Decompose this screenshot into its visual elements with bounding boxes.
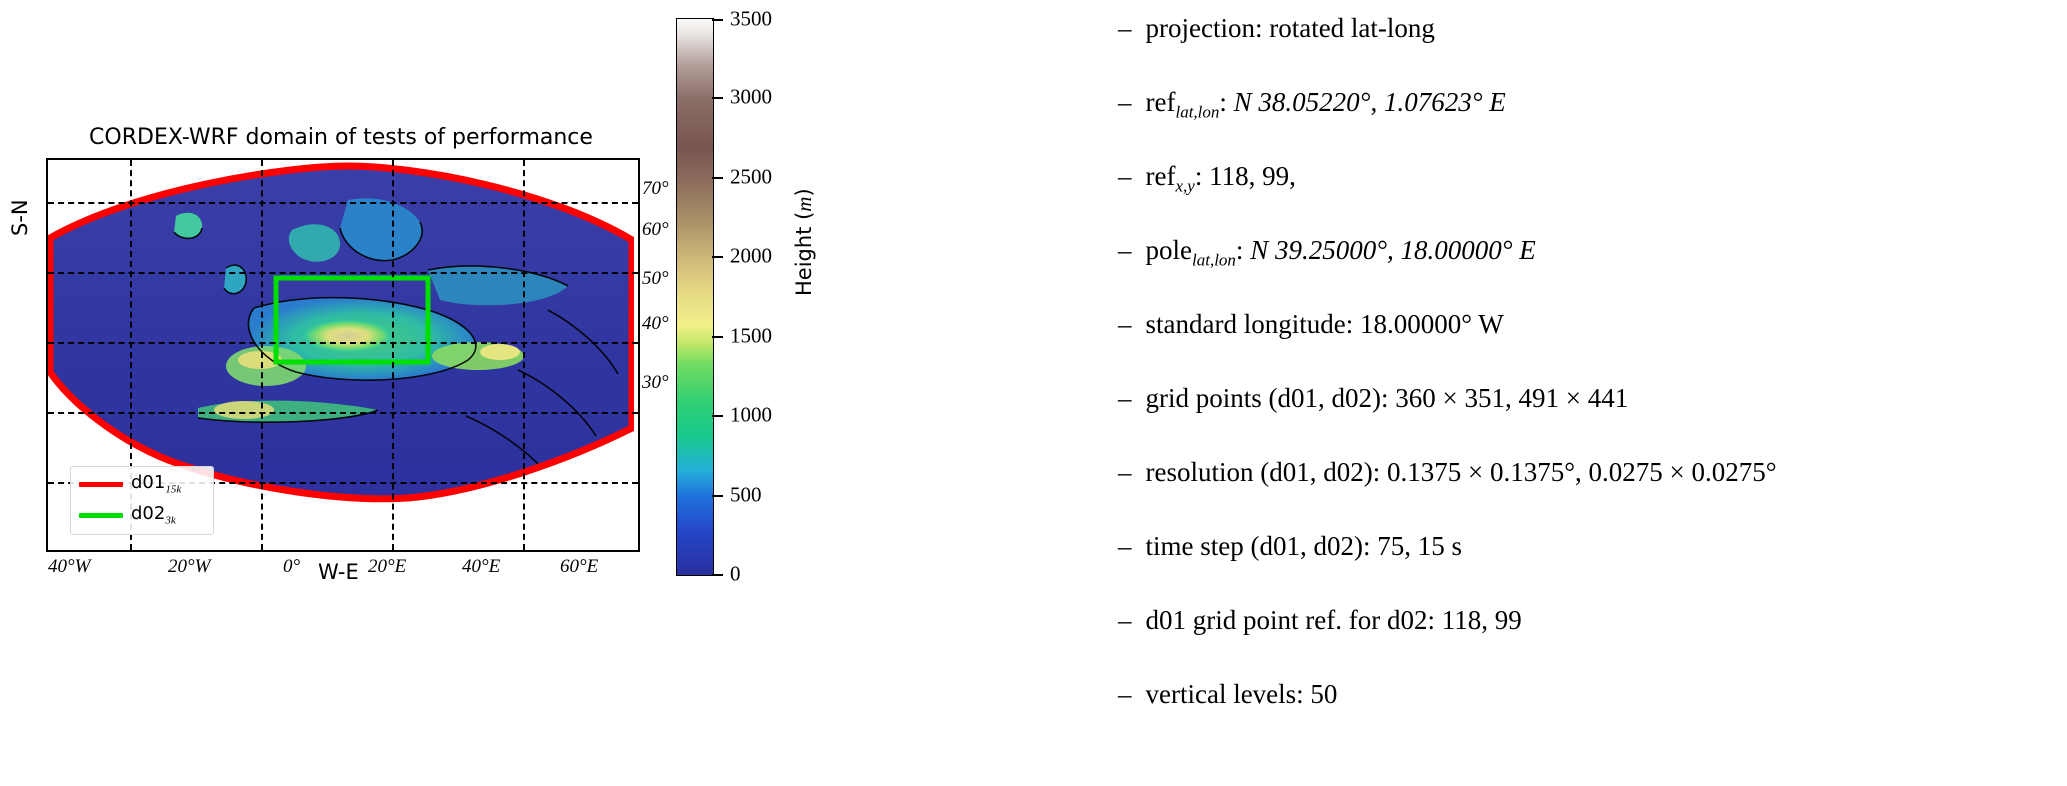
- colorbar-tick: [712, 256, 723, 258]
- d02-legend-swatch: [79, 513, 123, 518]
- y-axis-label: S-N: [8, 199, 32, 236]
- bullet-dash: –: [1118, 384, 1132, 414]
- gridline-lat: [48, 272, 638, 274]
- lat-tick-label: 50°: [642, 268, 669, 290]
- colorbar-gradient: [676, 18, 714, 576]
- colorbar-tick-label: 1000: [730, 403, 772, 428]
- gridline-lon: [261, 160, 263, 550]
- lon-tick-label: 40°W: [48, 556, 90, 578]
- lat-tick-label: 40°: [642, 313, 669, 335]
- param-text: grid points (d01, d02): 360 × 351, 491 ×…: [1146, 384, 1629, 414]
- legend-item-d02: d023k: [79, 505, 205, 527]
- gridline-lat: [48, 202, 638, 204]
- colorbar-tick: [712, 574, 723, 576]
- colorbar-tick-label: 0: [730, 562, 741, 587]
- colorbar-tick-label: 500: [730, 482, 762, 507]
- lon-tick-label: 40°E: [462, 556, 500, 578]
- colorbar-tick: [712, 19, 723, 21]
- bullet-dash: –: [1118, 236, 1132, 266]
- param-grid-points: – grid points (d01, d02): 360 × 351, 491…: [1118, 384, 2067, 458]
- param-standard-longitude: – standard longitude: 18.00000° W: [1118, 310, 2067, 384]
- param-text: d01 grid point ref. for d02: 118, 99: [1146, 606, 1522, 636]
- gridline-lat: [48, 342, 638, 344]
- bullet-dash: –: [1118, 680, 1132, 710]
- lon-tick-label: 0°: [283, 556, 300, 578]
- colorbar-tick-label: 3000: [730, 85, 772, 110]
- bullet-dash: –: [1118, 310, 1132, 340]
- param-vertical-levels: – vertical levels: 50: [1118, 680, 2067, 754]
- param-text: vertical levels: 50: [1146, 680, 1338, 710]
- colorbar-tick: [712, 495, 723, 497]
- lon-tick-label: 60°E: [560, 556, 598, 578]
- gridline-lat: [48, 412, 638, 414]
- lat-tick-label: 60°: [642, 219, 669, 241]
- param-projection: – projection: rotated lat-long: [1118, 14, 2067, 88]
- lon-tick-label: 20°E: [368, 556, 406, 578]
- legend-label-d01: d0115k: [131, 474, 181, 496]
- gridline-lon: [523, 160, 525, 550]
- x-axis-label: W-E: [318, 560, 359, 584]
- bullet-dash: –: [1118, 14, 1132, 44]
- param-ref-lat-lon: – reflat,lon: N 38.05220°, 1.07623° E: [1118, 88, 2067, 162]
- param-resolution: – resolution (d01, d02): 0.1375 × 0.1375…: [1118, 458, 2067, 532]
- param-d01-grid-point-ref: – d01 grid point ref. for d02: 118, 99: [1118, 606, 2067, 680]
- map-title: CORDEX-WRF domain of tests of performanc…: [46, 125, 636, 150]
- colorbar-tick: [712, 415, 723, 417]
- param-pole-lat-lon: – polelat,lon: N 39.25000°, 18.00000° E: [1118, 236, 2067, 310]
- bullet-dash: –: [1118, 162, 1132, 192]
- colorbar-tick: [712, 336, 723, 338]
- colorbar-tick-label: 1500: [730, 323, 772, 348]
- lat-tick-label: 70°: [642, 178, 669, 200]
- d01-legend-swatch: [79, 482, 123, 487]
- bullet-dash: –: [1118, 458, 1132, 488]
- colorbar-tick-label: 3500: [730, 7, 772, 32]
- bullet-dash: –: [1118, 88, 1132, 118]
- colorbar-tick: [712, 97, 723, 99]
- legend-item-d01: d0115k: [79, 474, 205, 496]
- figure: CORDEX-WRF domain of tests of performanc…: [0, 0, 2067, 786]
- param-text: refx,y: 118, 99,: [1146, 162, 1296, 196]
- param-text: standard longitude: 18.00000° W: [1146, 310, 1504, 340]
- bullet-dash: –: [1118, 532, 1132, 562]
- bullet-dash: –: [1118, 606, 1132, 636]
- param-text: projection: rotated lat-long: [1146, 14, 1435, 44]
- parameter-list: – projection: rotated lat-long – reflat,…: [1118, 0, 2067, 786]
- lat-tick-label: 30°: [642, 372, 669, 394]
- param-text: reflat,lon: N 38.05220°, 1.07623° E: [1146, 88, 1506, 122]
- param-text: polelat,lon: N 39.25000°, 18.00000° E: [1146, 236, 1536, 270]
- map-panel: CORDEX-WRF domain of tests of performanc…: [0, 0, 880, 786]
- param-text: time step (d01, d02): 75, 15 s: [1146, 532, 1462, 562]
- map-legend: d0115k d023k: [70, 466, 214, 535]
- colorbar-tick: [712, 177, 723, 179]
- param-time-step: – time step (d01, d02): 75, 15 s: [1118, 532, 2067, 606]
- legend-label-d02: d023k: [131, 505, 176, 527]
- colorbar-title: Height (m): [792, 188, 817, 296]
- param-ref-x-y: – refx,y: 118, 99,: [1118, 162, 2067, 236]
- colorbar: 0 500 1000 1500 2000 2500 3000 3500 Heig…: [676, 18, 876, 578]
- lon-tick-label: 20°W: [168, 556, 210, 578]
- colorbar-tick-label: 2500: [730, 164, 772, 189]
- param-text: resolution (d01, d02): 0.1375 × 0.1375°,…: [1146, 458, 1777, 488]
- gridline-lon: [392, 160, 394, 550]
- colorbar-tick-label: 2000: [730, 244, 772, 269]
